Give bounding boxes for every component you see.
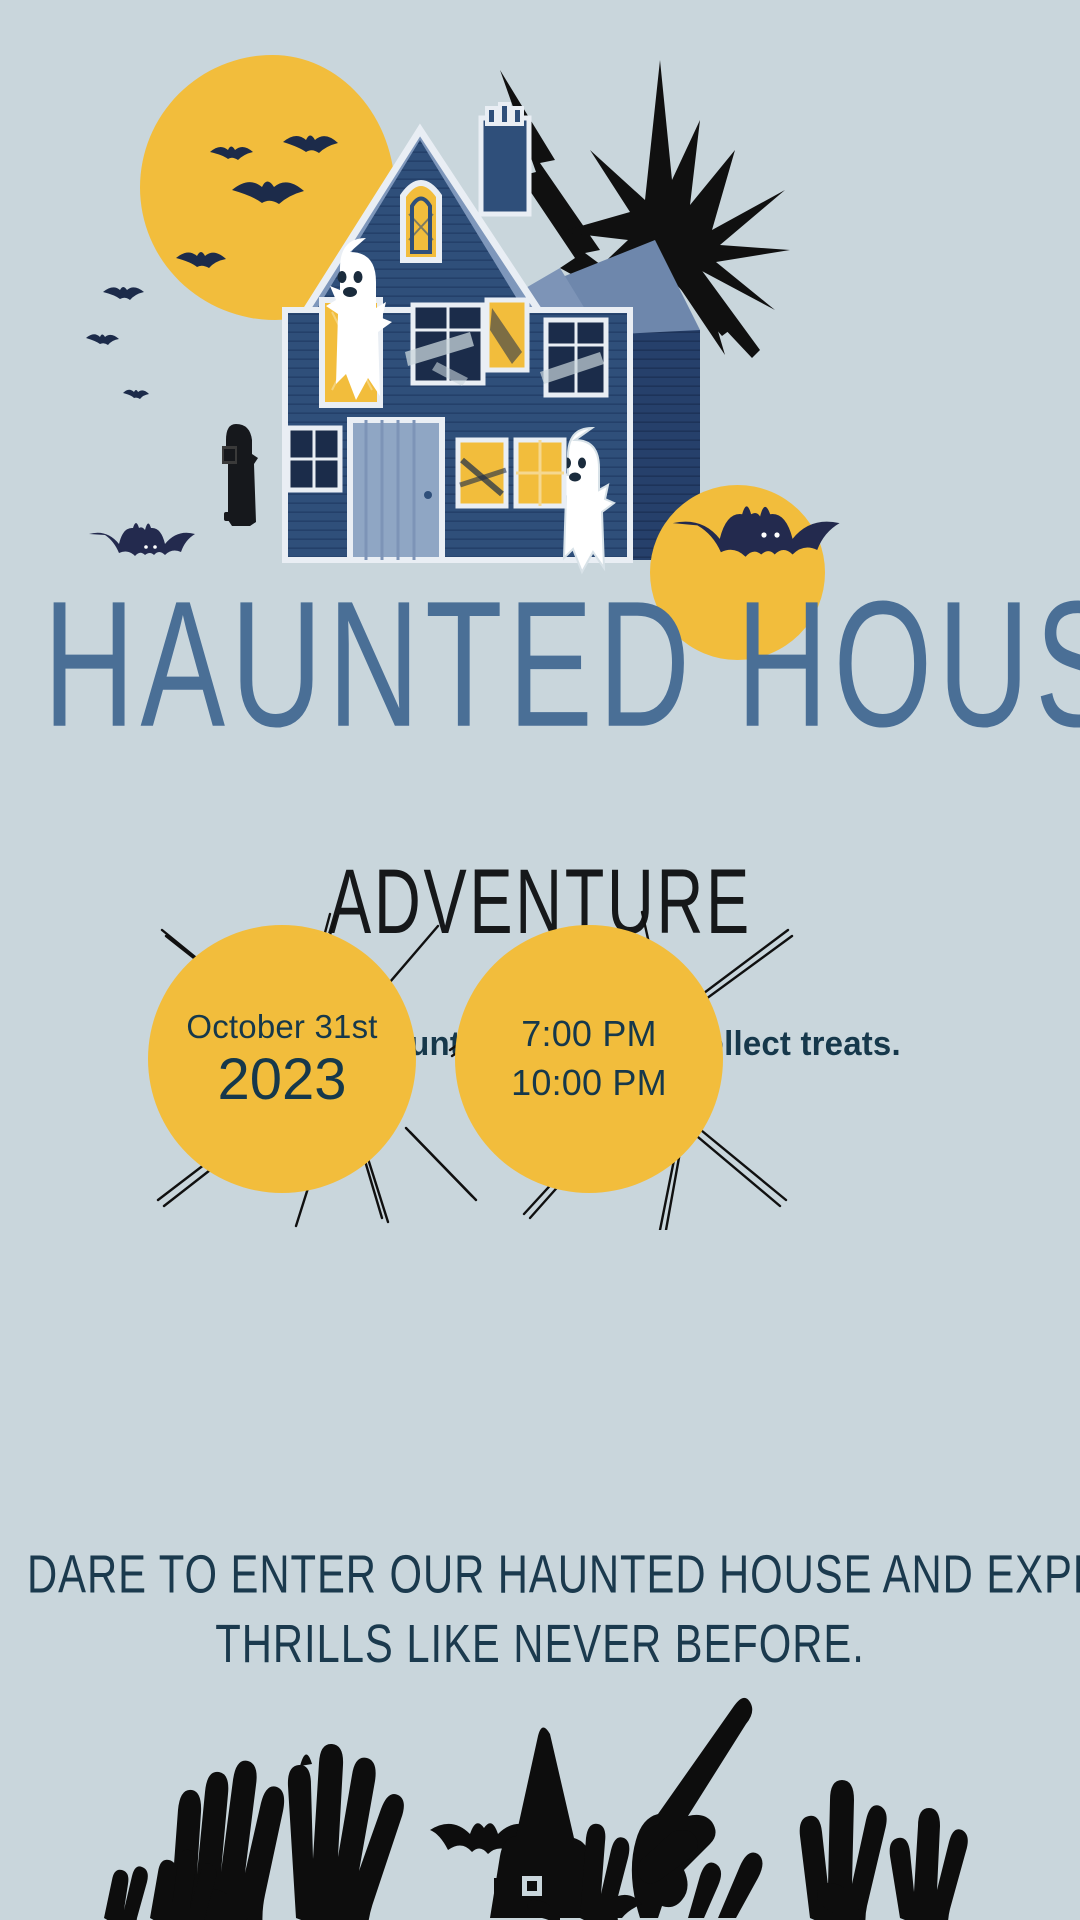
page-title: Haunted House xyxy=(43,575,1037,754)
zombie-hands-silhouette xyxy=(0,1660,1080,1920)
zombie-hand xyxy=(890,1808,968,1920)
zombie-hand xyxy=(288,1744,404,1920)
bottom-copy: Dare to enter our haunted house and expe… xyxy=(27,1540,1053,1680)
time-badge[interactable]: 7:00 PM 10:00 PM xyxy=(455,925,723,1193)
bottom-copy-line-1: Dare to enter our haunted house and expe… xyxy=(27,1540,1053,1610)
lower-window xyxy=(288,428,340,490)
chimney xyxy=(481,104,529,214)
lower-window-lit xyxy=(458,440,506,506)
poster-canvas: Haunted House Adventure Explore the haun… xyxy=(0,0,1080,1920)
date-day-label: October 31st xyxy=(186,1008,377,1046)
front-door xyxy=(350,420,442,560)
time-start-label: 7:00 PM xyxy=(521,1010,656,1059)
broken-window xyxy=(540,320,606,395)
lower-window-lit xyxy=(516,440,564,506)
date-badge[interactable]: October 31st 2023 xyxy=(148,925,416,1193)
grim-reaper-icon xyxy=(222,424,258,526)
broken-window xyxy=(405,305,483,386)
time-end-label: 10:00 PM xyxy=(511,1059,667,1108)
zombie-hand xyxy=(104,1866,148,1920)
lit-window xyxy=(487,300,527,370)
date-year-label: 2023 xyxy=(217,1050,346,1111)
attic-window xyxy=(403,183,439,260)
